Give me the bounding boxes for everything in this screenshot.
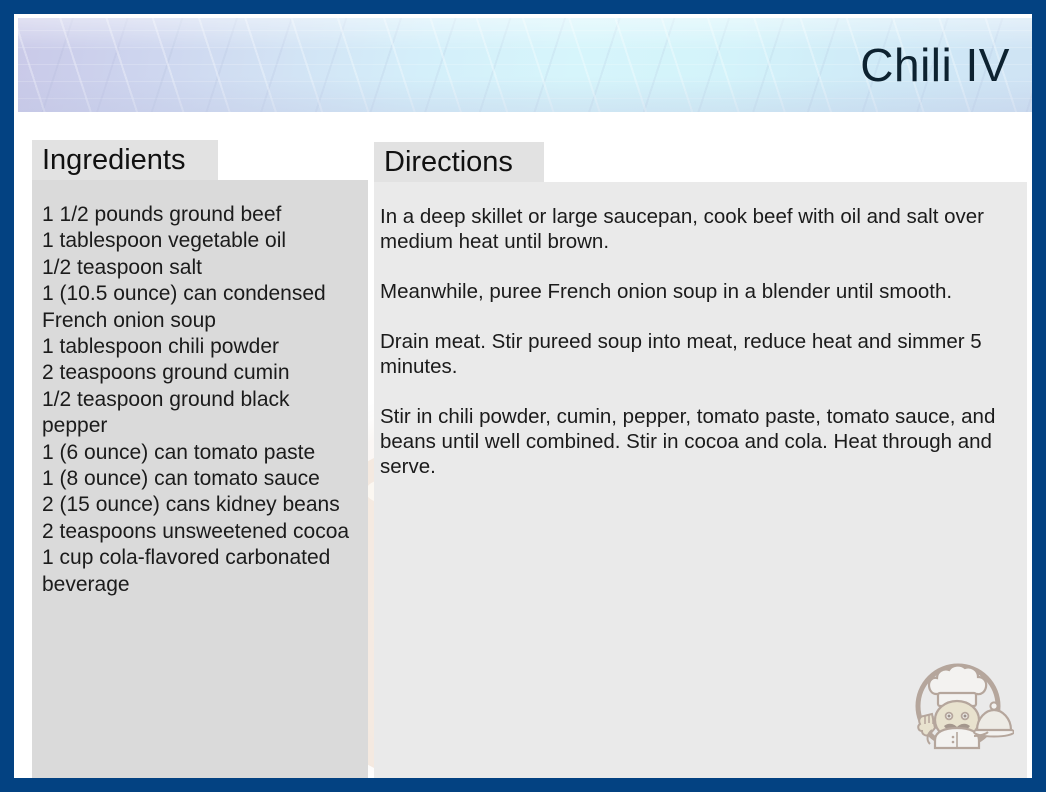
list-item: 2 teaspoons unsweetened cocoa — [42, 519, 352, 545]
list-item: 1 1/2 pounds ground beef — [42, 202, 352, 228]
list-item: 1 tablespoon chili powder — [42, 334, 352, 360]
direction-step: Drain meat. Stir pureed soup into meat, … — [380, 329, 1009, 379]
directions-heading: Directions — [384, 148, 513, 177]
recipe-card: Chili IV Ingredients 1 1/2 pounds ground… — [0, 0, 1046, 792]
direction-step: Stir in chili powder, cumin, pepper, tom… — [380, 404, 1009, 479]
list-item: 2 teaspoons ground cumin — [42, 360, 352, 386]
list-item: 1 (6 ounce) can tomato paste — [42, 440, 352, 466]
list-item: 1/2 teaspoon ground black pepper — [42, 387, 352, 440]
list-item: 2 (15 ounce) cans kidney beans — [42, 492, 352, 518]
recipe-title: Chili IV — [860, 38, 1010, 92]
direction-step: In a deep skillet or large saucepan, coo… — [380, 204, 1009, 254]
list-item: 1 (10.5 ounce) can condensed French onio… — [42, 281, 352, 334]
ingredient-list: 1 1/2 pounds ground beef 1 tablespoon ve… — [42, 202, 352, 598]
header-banner: Chili IV — [18, 18, 1032, 112]
section-tab-directions: Directions — [374, 142, 544, 182]
direction-step: Meanwhile, puree French onion soup in a … — [380, 279, 1009, 304]
list-item: 1/2 teaspoon salt — [42, 255, 352, 281]
ingredients-panel: 1 1/2 pounds ground beef 1 tablespoon ve… — [32, 180, 368, 791]
list-item: 1 (8 ounce) can tomato sauce — [42, 466, 352, 492]
recipe-page: Chili IV Ingredients 1 1/2 pounds ground… — [14, 14, 1032, 778]
ingredients-heading: Ingredients — [42, 146, 186, 175]
list-item: 1 cup cola-flavored carbonated beverage — [42, 545, 352, 598]
list-item: 1 tablespoon vegetable oil — [42, 228, 352, 254]
directions-panel: In a deep skillet or large saucepan, coo… — [374, 182, 1027, 791]
section-tab-ingredients: Ingredients — [32, 140, 218, 180]
